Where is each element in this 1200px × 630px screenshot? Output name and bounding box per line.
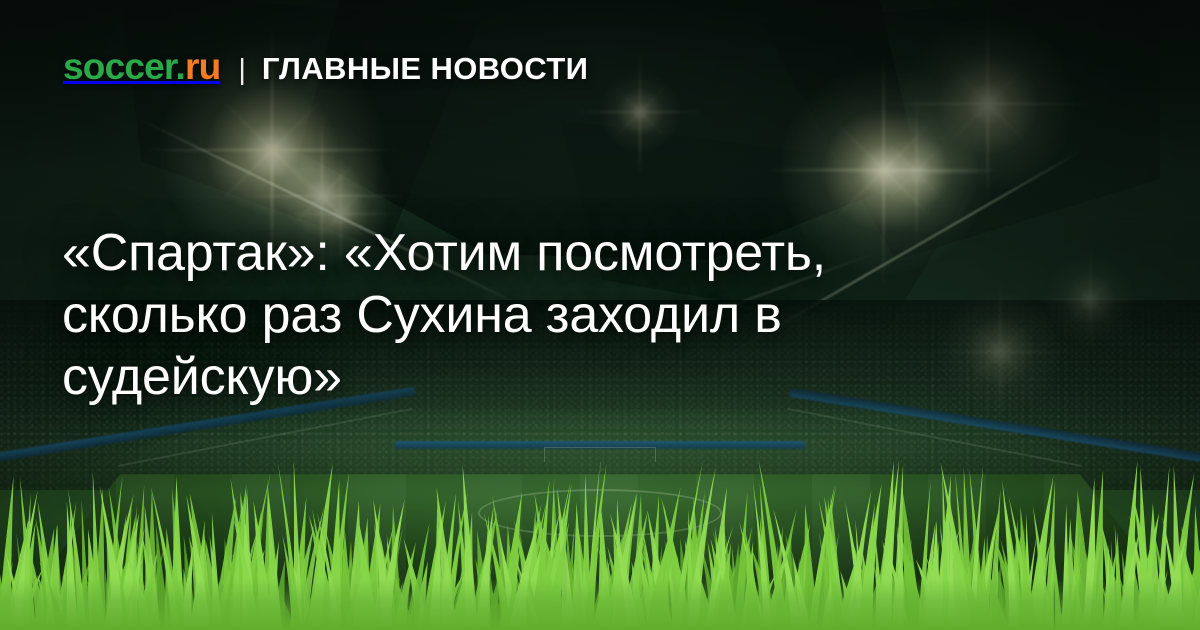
headline-line: судейскую» <box>62 348 342 406</box>
article-headline: «Спартак»: «Хотим посмотреть,сколько раз… <box>62 222 962 408</box>
headline-line: «Спартак»: «Хотим посмотреть, <box>62 224 826 282</box>
social-share-card: soccer.ru | ГЛАВНЫЕ НОВОСТИ «Спартак»: «… <box>0 0 1200 630</box>
header-divider: | <box>238 56 246 85</box>
logo-text-ru: ru <box>185 46 220 87</box>
section-kicker: ГЛАВНЫЕ НОВОСТИ <box>262 53 588 84</box>
logo-text-soccer: soccer <box>63 46 175 87</box>
site-header: soccer.ru | ГЛАВНЫЕ НОВОСТИ <box>63 48 588 85</box>
headline-line: сколько раз Сухина заходил в <box>62 286 782 344</box>
site-logo[interactable]: soccer.ru <box>63 48 220 85</box>
grass-base-fill <box>0 578 1200 630</box>
logo-text-dot: . <box>175 46 184 87</box>
foreground-grass <box>0 455 1200 630</box>
